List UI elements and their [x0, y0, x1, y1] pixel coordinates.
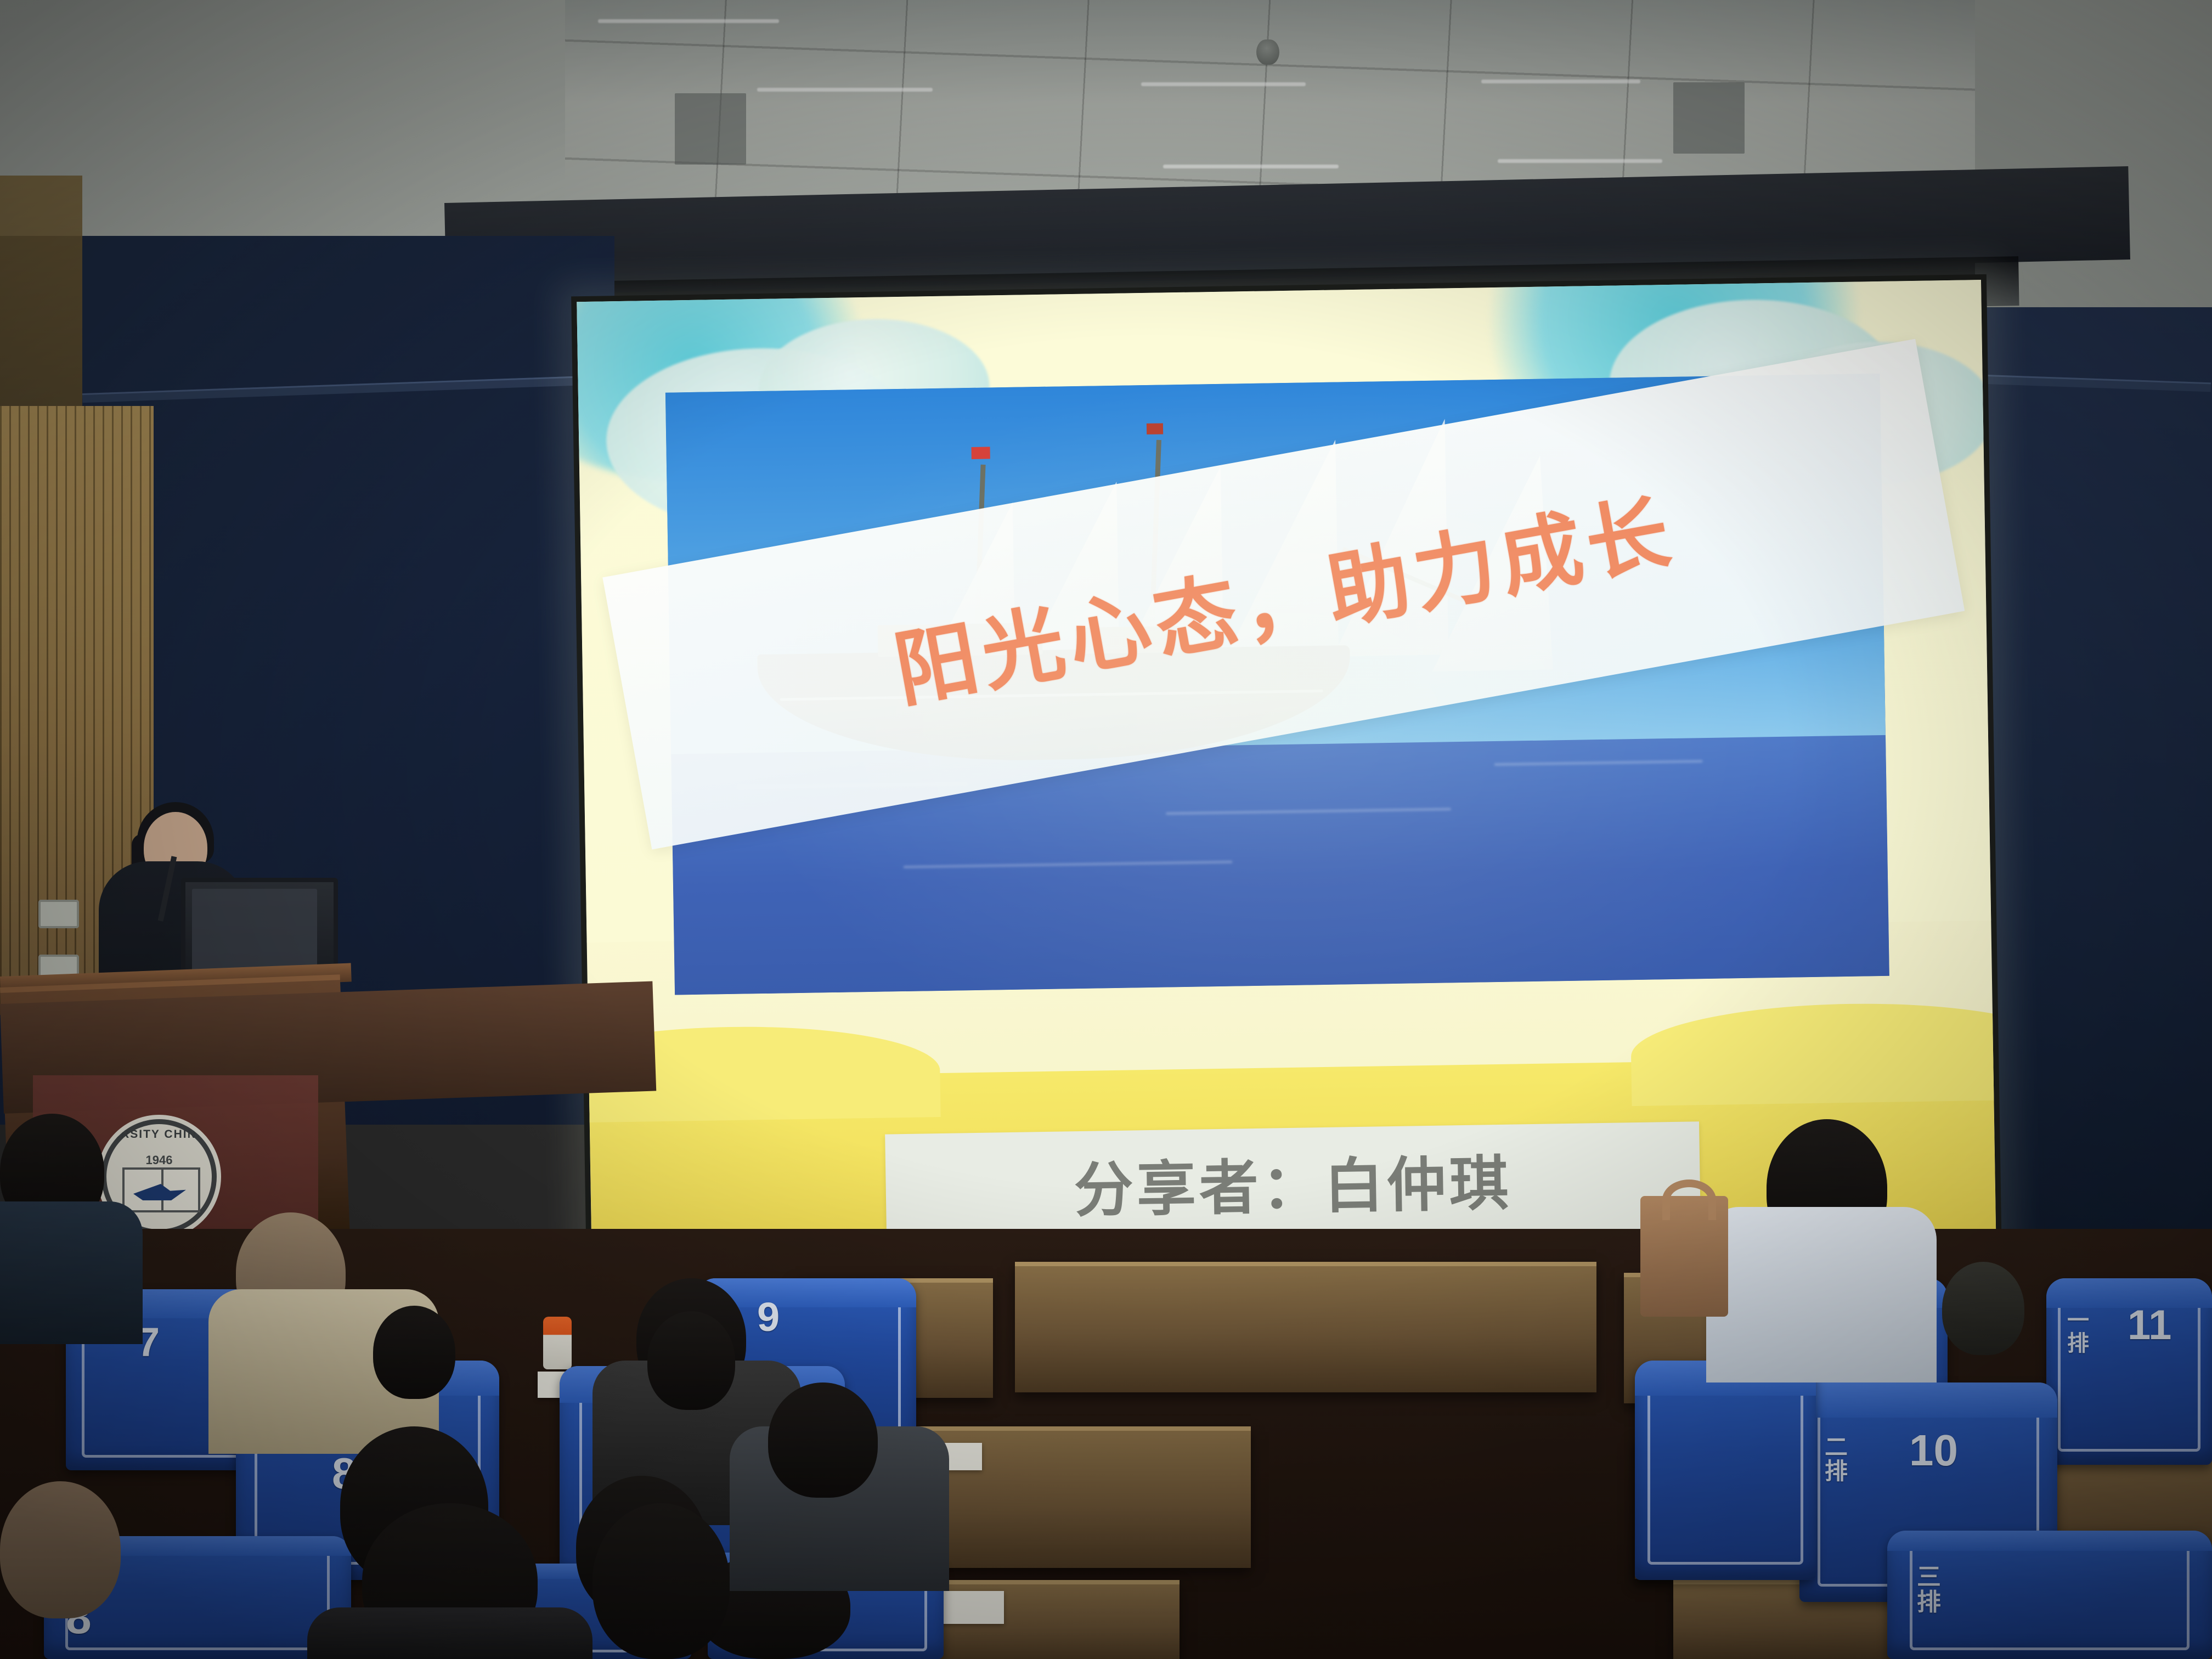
sprinkler-head — [1256, 39, 1279, 65]
seat-row-label: 二排 — [1824, 1435, 1849, 1483]
podium-monitor-screen — [192, 889, 317, 971]
audience-body-1 — [0, 1201, 143, 1344]
seat-row-label: 三排 — [1916, 1565, 1942, 1615]
lecture-hall-photo: 阳光心态，助力成长 分享者：白仲琪 ERSITY CHINA 1946 — [0, 0, 2212, 1659]
projection-screen[interactable]: 阳光心态，助力成长 分享者：白仲琪 — [571, 274, 2002, 1278]
wall-wood-upper-left — [0, 176, 82, 411]
audience-head-13 — [592, 1503, 730, 1659]
logo-ring-text: ERSITY CHINA — [101, 1128, 217, 1141]
mast-flag-2 — [1147, 424, 1163, 435]
wall-outlet[interactable] — [38, 900, 79, 928]
water-bottle[interactable] — [543, 1317, 572, 1369]
backpack-strap — [1662, 1180, 1716, 1220]
seat-row-label: 一排 — [2066, 1309, 2090, 1355]
seat-number: 11 — [2128, 1301, 2171, 1349]
seat-number: 10 — [1909, 1425, 1958, 1476]
audience-body-6 — [307, 1607, 592, 1659]
audience-head-12 — [1942, 1262, 2024, 1355]
desk-center — [1015, 1262, 1596, 1392]
slide-canvas: 阳光心态，助力成长 分享者：白仲琪 — [577, 280, 1996, 1273]
chair-row2-left-of-10[interactable] — [1635, 1361, 1816, 1580]
chair-row1-seat-11[interactable]: 一排 11 — [2046, 1278, 2212, 1465]
audience-head-4 — [373, 1306, 455, 1399]
presenter-name-box: 分享者：白仲琪 — [885, 1121, 1701, 1243]
chair-row3-right[interactable]: 三排 — [1887, 1531, 2212, 1659]
seat-number: 9 — [757, 1294, 780, 1340]
audience-head-10 — [647, 1311, 735, 1410]
audience-body-11 — [1706, 1207, 1937, 1383]
logo-year: 1946 — [101, 1153, 217, 1167]
audience-head-14 — [768, 1383, 878, 1498]
presenter-name: 分享者：白仲琪 — [1073, 1136, 1512, 1229]
mast-flag — [971, 447, 990, 460]
audience-head-9 — [0, 1481, 121, 1618]
